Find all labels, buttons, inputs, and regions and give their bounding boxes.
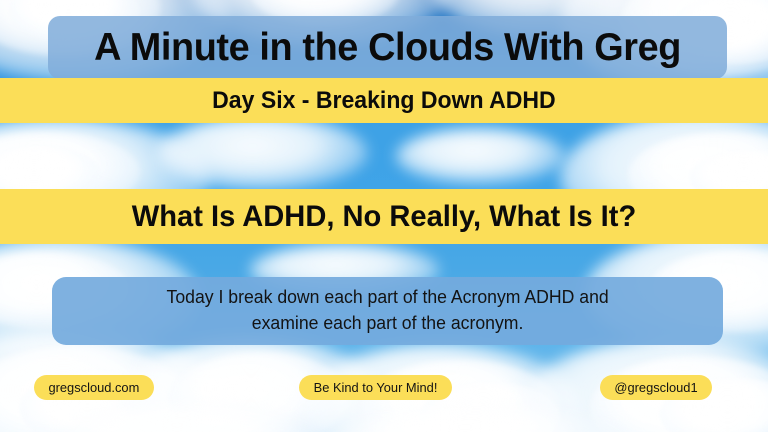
social-handle-pill[interactable]: @gregscloud1 (600, 375, 712, 400)
slogan-label: Be Kind to Your Mind! (314, 381, 438, 394)
main-title-box: A Minute in the Clouds With Greg (48, 16, 727, 79)
description-box: Today I break down each part of the Acro… (52, 277, 723, 345)
description-line-2: examine each part of the acronym. (252, 311, 524, 337)
slogan-pill: Be Kind to Your Mind! (299, 375, 452, 400)
subtitle-band: Day Six - Breaking Down ADHD (0, 78, 768, 123)
episode-question: What Is ADHD, No Really, What Is It? (132, 202, 636, 232)
thumbnail-canvas: A Minute in the Clouds With Greg Day Six… (0, 0, 768, 432)
description-line-1: Today I break down each part of the Acro… (166, 285, 608, 311)
episode-subtitle: Day Six - Breaking Down ADHD (212, 89, 556, 113)
question-band: What Is ADHD, No Really, What Is It? (0, 189, 768, 244)
page-title: A Minute in the Clouds With Greg (94, 28, 681, 67)
website-pill[interactable]: gregscloud.com (34, 375, 154, 400)
website-label: gregscloud.com (48, 381, 139, 394)
social-handle-label: @gregscloud1 (614, 381, 697, 394)
